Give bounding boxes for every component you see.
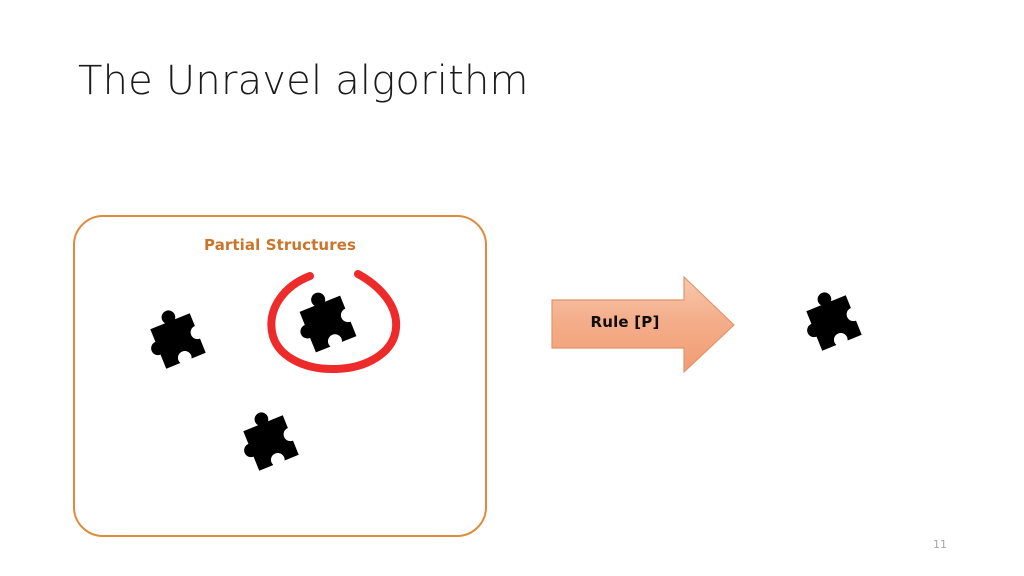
slide-canvas: The Unravel algorithm Partial Structures	[0, 0, 1024, 576]
puzzle-piece-circled	[289, 285, 367, 363]
puzzle-piece-left	[140, 303, 216, 379]
partial-structures-label: Partial Structures	[73, 236, 487, 254]
puzzle-piece-bottom	[233, 405, 309, 481]
partial-structures-box	[73, 215, 487, 537]
rule-arrow-label: Rule [P]	[550, 313, 700, 331]
puzzle-piece-result	[796, 285, 872, 361]
page-number: 11	[920, 538, 960, 551]
page-title: The Unravel algorithm	[78, 58, 778, 104]
